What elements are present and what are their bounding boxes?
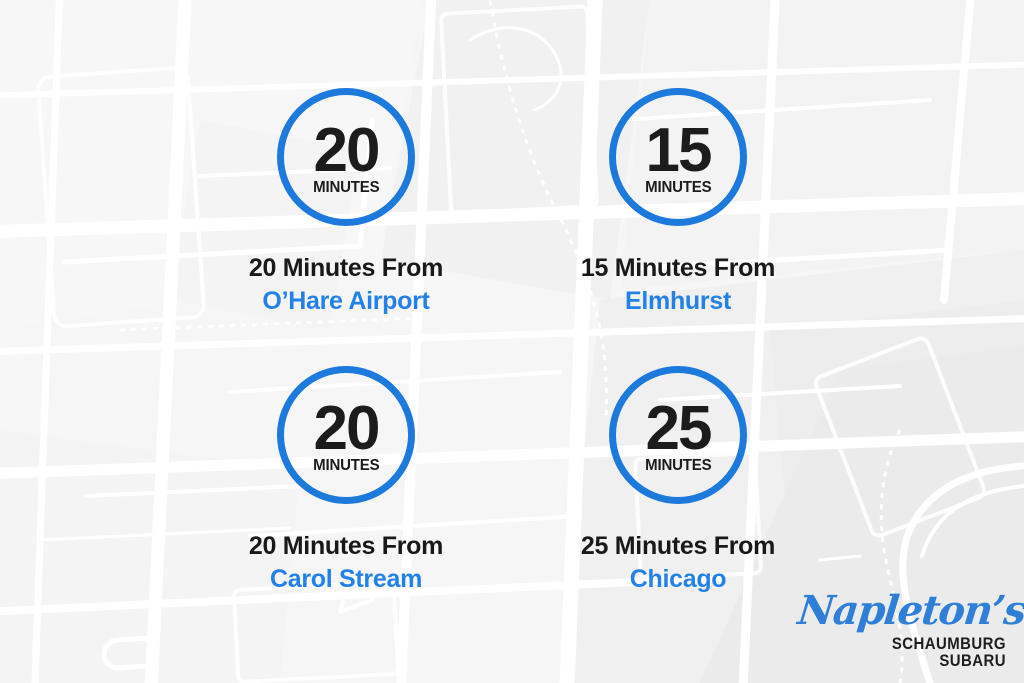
stat-caption: 15 Minutes From Elmhurst bbox=[468, 252, 888, 318]
badge-unit-label: MINUTES bbox=[313, 180, 379, 196]
badge-unit-label: MINUTES bbox=[313, 458, 379, 474]
badge-unit-label: MINUTES bbox=[645, 458, 711, 474]
badge-number: 25 bbox=[646, 402, 711, 457]
minutes-badge: 25 MINUTES bbox=[609, 366, 747, 504]
logo-wordmark: Napleton’s bbox=[796, 591, 1010, 631]
stats-grid: 20 MINUTES 20 Minutes From O’Hare Airpor… bbox=[0, 0, 1024, 683]
dealership-logo: Napleton’s SCHAUMBURG SUBARU bbox=[796, 591, 1006, 669]
minutes-badge: 20 MINUTES bbox=[277, 366, 415, 504]
badge-number: 20 bbox=[314, 402, 379, 457]
badge-unit-label: MINUTES bbox=[645, 180, 711, 196]
caption-primary: 15 Minutes From bbox=[468, 252, 888, 285]
stat-card-elmhurst: 15 MINUTES 15 Minutes From Elmhurst bbox=[468, 88, 888, 318]
stat-card-chicago: 25 MINUTES 25 Minutes From Chicago bbox=[468, 366, 888, 596]
caption-location: Elmhurst bbox=[468, 285, 888, 318]
minutes-badge: 20 MINUTES bbox=[277, 88, 415, 226]
badge-number: 15 bbox=[646, 124, 711, 179]
badge-number: 20 bbox=[314, 124, 379, 179]
promo-graphic: 20 MINUTES 20 Minutes From O’Hare Airpor… bbox=[0, 0, 1024, 683]
logo-subtitle: SCHAUMBURG SUBARU bbox=[821, 635, 1006, 669]
caption-primary: 25 Minutes From bbox=[468, 530, 888, 563]
minutes-badge: 15 MINUTES bbox=[609, 88, 747, 226]
